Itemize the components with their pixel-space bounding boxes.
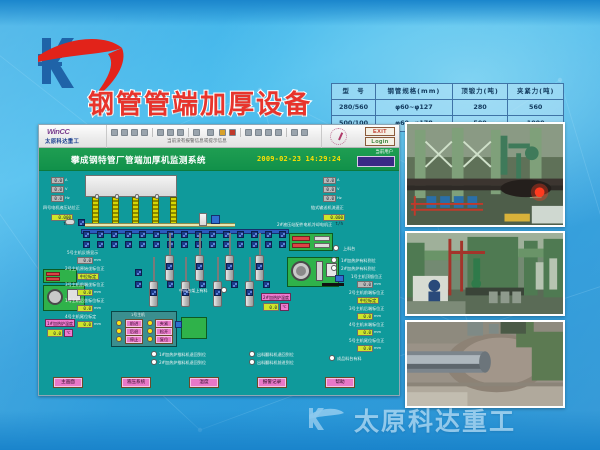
rotary-hub xyxy=(296,266,306,276)
spec-r0c3: 560 xyxy=(508,100,564,116)
indicator-lamp xyxy=(331,257,337,263)
cylinder-rod xyxy=(259,233,261,255)
photo-pipe-closeup-image xyxy=(407,322,563,408)
position-unit: mm xyxy=(94,321,101,327)
cylinder-rod xyxy=(153,257,155,281)
valve xyxy=(279,241,286,248)
valve-block-a xyxy=(314,236,330,241)
valve xyxy=(135,269,142,276)
cylinder-rod xyxy=(169,233,171,255)
toolbar-separator xyxy=(152,128,153,137)
wincc-logo: WinCC xyxy=(47,127,70,136)
cylinder-rod xyxy=(249,257,251,281)
valve-block-b xyxy=(314,243,330,248)
cylinder-valve xyxy=(196,263,203,270)
alarm-stop-icon[interactable] xyxy=(229,129,236,136)
valve xyxy=(139,241,146,248)
login-button[interactable]: Login xyxy=(365,137,395,146)
spec-header-3: 夹紧力(吨) xyxy=(508,84,564,100)
cylinder-rod xyxy=(185,257,187,281)
watermark-text: 太原科达重工 xyxy=(354,402,516,438)
cobrand-label: 太原科达重工 xyxy=(45,137,79,145)
indicator-label: 1#加热炉推料机退回到位 xyxy=(159,353,206,357)
spec-header-2: 顶锻力(吨) xyxy=(452,84,508,100)
cylinder-valve xyxy=(150,289,157,296)
position-unit: mm xyxy=(94,289,101,295)
value-cell: 0.0 xyxy=(51,186,64,193)
temperature-label-right: 2#加热炉温度 xyxy=(261,293,291,301)
ack-alarm-icon[interactable] xyxy=(193,129,200,136)
head-3 xyxy=(135,194,139,199)
valve xyxy=(279,231,286,238)
copy-icon[interactable] xyxy=(141,129,148,136)
keypad-title: 1号主机 xyxy=(131,313,145,317)
head-4 xyxy=(155,194,159,199)
keypad-side-module xyxy=(181,317,207,339)
help-icon[interactable] xyxy=(291,129,298,136)
valve xyxy=(209,231,216,238)
solenoid-b xyxy=(292,243,310,248)
hmi-toolbar-right: EXIT Login xyxy=(321,125,399,148)
position-value: 0.0 xyxy=(357,329,373,336)
indicator-label: 2#加热炉有料到位 xyxy=(341,267,376,271)
indicator-label: 出料翻料机退回到位 xyxy=(257,353,294,357)
position-label: 5号主机反馈显示 xyxy=(67,251,98,255)
exit-button[interactable]: EXIT xyxy=(365,127,395,136)
valve xyxy=(139,231,146,238)
head-2 xyxy=(115,194,119,199)
photo-press-machine-image xyxy=(407,233,563,316)
indicator-lamp xyxy=(151,359,157,365)
main-tank xyxy=(85,175,177,197)
save-icon[interactable] xyxy=(131,129,138,136)
valve xyxy=(237,241,244,248)
keypad-lamp[interactable] xyxy=(116,336,122,342)
motor-icon xyxy=(211,215,220,224)
position-value: 中位标定 xyxy=(357,297,379,304)
indicator-lamp xyxy=(221,287,227,293)
nav-button-hydraulic-system[interactable]: 液压系统 xyxy=(121,377,151,388)
column-3 xyxy=(132,197,139,225)
keypad-lamp[interactable] xyxy=(116,320,122,326)
nav-button-alarm-log[interactable]: 报警记录 xyxy=(257,377,287,388)
position-label: 2号主机前端标位正 xyxy=(349,291,384,295)
cylinder-valve xyxy=(246,289,253,296)
left-rotary-head-icon xyxy=(47,289,63,305)
left-solenoid-a xyxy=(46,272,60,276)
hmi-system-title: 攀成钢特管厂管端加厚机监测系统 xyxy=(71,154,206,166)
keypad-button[interactable]: 停止 xyxy=(125,335,143,344)
valve xyxy=(97,231,104,238)
indicator-label: 出料翻料机前进到位 xyxy=(257,361,294,365)
toolbar-separator xyxy=(286,128,287,137)
valve xyxy=(181,241,188,248)
unit-label: V xyxy=(65,186,67,192)
valve xyxy=(263,281,270,288)
indicator-lamp xyxy=(333,245,339,251)
position-label: 5号主机尾位标位正 xyxy=(349,339,384,343)
top-gradient xyxy=(0,0,600,26)
spec-table-header-row: 型 号 钢管规格(mm) 顶锻力(吨) 夹紧力(吨) xyxy=(332,84,564,100)
slide-header: 钢管管端加厚设备 型 号 钢管规格(mm) 顶锻力(吨) 夹紧力(吨) 280/… xyxy=(0,34,600,112)
position-value: 0.0 xyxy=(77,257,93,264)
position-label: 3号主机前端坐标位正 xyxy=(65,283,104,287)
position-value: 0.0 xyxy=(77,321,93,328)
indicator-label: 成品料台有料 xyxy=(337,357,362,361)
valve xyxy=(97,241,104,248)
position-unit: mm xyxy=(94,257,101,263)
value-cell: 0.0 xyxy=(323,177,336,184)
list-icon[interactable] xyxy=(265,129,272,136)
valve xyxy=(153,231,160,238)
sort-asc-icon[interactable] xyxy=(167,129,174,136)
left-solenoid-b xyxy=(46,277,60,281)
indicator-label: 上料台 xyxy=(343,247,355,251)
hmi-brand-area: WinCC 太原科达重工 xyxy=(39,125,107,148)
indicator-lamp xyxy=(249,351,255,357)
toolbar-separator xyxy=(188,128,189,137)
hmi-footer-bar: 主画面 液压系统 温度 报警记录 帮助 xyxy=(39,371,399,396)
temperature-unit-right: ℃ xyxy=(280,303,289,311)
cylinder-rod xyxy=(217,257,219,281)
indicator-lamp xyxy=(329,355,335,361)
position-unit: mm xyxy=(374,329,381,335)
position-label: 1号主机后坐标位标正 xyxy=(65,299,104,303)
indicator-label: 2#加热炉推料机退回到位 xyxy=(159,361,206,365)
position-unit: mm xyxy=(94,305,101,311)
hmi-titlebar: 攀成钢特管厂管端加厚机监测系统 2009-02-23 14:29:24 当前用户 xyxy=(39,148,399,171)
temperature-value-left: 0.0 xyxy=(47,329,63,337)
temperature-label-left: 1#加热炉温度 xyxy=(45,319,75,327)
value-cell: 0.0 xyxy=(323,195,336,202)
page-title: 钢管管端加厚设备 xyxy=(88,84,312,121)
print-icon[interactable] xyxy=(121,129,128,136)
hmi-user-label: 当前用户 xyxy=(375,149,393,155)
hmi-screenshot-window: WinCC 太原科达重工 当前没有报警信息或提示信息 xyxy=(38,124,400,396)
indicator-label: 1#加热炉有料到位 xyxy=(341,259,376,263)
valve xyxy=(231,281,238,288)
position-label: 4号主机末端标位正 xyxy=(349,323,384,327)
unit-label: A xyxy=(65,177,67,183)
valve xyxy=(125,241,132,248)
zoom-in-icon[interactable] xyxy=(245,129,252,136)
hmi-process-canvas: 0.0 A 0.0 V 0.0 Hz 四号电机液压站位正 0.000 t/h 0… xyxy=(39,171,399,396)
accumulator xyxy=(199,213,207,226)
hmi-toolbar-icons: 当前没有报警信息或提示信息 xyxy=(107,125,321,148)
spec-header-1: 钢管规格(mm) xyxy=(376,84,453,100)
keypad-side-motor xyxy=(175,321,182,328)
unit-label: Hz xyxy=(337,195,342,201)
valve xyxy=(111,231,118,238)
position-value: 0.0 xyxy=(357,313,373,320)
temperature-value-right: 0.0 xyxy=(263,303,279,311)
filter-icon[interactable] xyxy=(157,129,164,136)
spec-r0c2: 280 xyxy=(452,100,508,116)
spec-r0c1: φ60~φ127 xyxy=(376,100,453,116)
valve xyxy=(209,241,216,248)
position-value: 0.0 xyxy=(357,281,373,288)
zoom-out-icon[interactable] xyxy=(255,129,262,136)
cylinder-valve xyxy=(166,263,173,270)
position-unit: mm xyxy=(374,281,381,287)
column-5 xyxy=(170,197,177,225)
base-rail xyxy=(322,283,344,286)
position-unit: mm xyxy=(374,313,381,319)
cylinder-valve xyxy=(256,263,263,270)
gauge-icon xyxy=(330,128,347,145)
filter-icon xyxy=(65,219,75,225)
position-value: 0.0 xyxy=(77,305,93,312)
valve xyxy=(265,231,272,238)
valve xyxy=(237,231,244,238)
cylinder-valve xyxy=(214,289,221,296)
valve xyxy=(153,241,160,248)
keypad-lamp[interactable] xyxy=(147,336,153,342)
watermark-logo-icon xyxy=(306,405,346,435)
valve xyxy=(251,241,258,248)
position-unit: mm xyxy=(374,345,381,351)
group-caption: 链式输送机流速正 xyxy=(311,206,344,210)
valve xyxy=(181,231,188,238)
value-cell: 0.0 xyxy=(323,186,336,193)
watermark: 太原科达重工 xyxy=(306,402,516,438)
hmi-user-field[interactable] xyxy=(357,156,395,167)
hmi-datetime: 2009-02-23 14:29:24 xyxy=(257,155,341,163)
column-4 xyxy=(152,197,159,225)
column-2 xyxy=(112,197,119,225)
indicator-lamp xyxy=(331,265,337,271)
info-icon[interactable] xyxy=(207,129,214,136)
cylinder-rod xyxy=(199,233,201,255)
spec-r0c0: 280/560 xyxy=(332,100,376,116)
valve xyxy=(125,231,132,238)
drive-motor-icon xyxy=(335,275,344,282)
cylinder-valve xyxy=(226,263,233,270)
sort-desc-icon[interactable] xyxy=(177,129,184,136)
open-icon[interactable] xyxy=(111,129,118,136)
valve xyxy=(251,231,258,238)
keypad-lamp[interactable] xyxy=(147,328,153,334)
nav-button-temperature[interactable]: 温度 xyxy=(189,377,219,388)
position-label: 1号主机顶锻位正 xyxy=(351,275,382,279)
valve xyxy=(111,241,118,248)
valve xyxy=(167,281,174,288)
photo-press-machine xyxy=(405,231,565,316)
valve xyxy=(199,281,206,288)
nav-button-help[interactable]: 帮助 xyxy=(325,377,355,388)
valve xyxy=(83,241,90,248)
indicator-label: 中间台架上有料 xyxy=(179,289,208,293)
unit-label: Hz xyxy=(65,195,70,201)
valve xyxy=(83,231,90,238)
toolbar-separator xyxy=(240,128,241,137)
spec-header-0: 型 号 xyxy=(332,84,376,100)
column-1 xyxy=(92,197,99,225)
photo-pipe-closeup xyxy=(405,320,565,408)
temperature-unit-left: ℃ xyxy=(64,329,73,337)
inlet-valve xyxy=(78,219,85,226)
indicator-lamp xyxy=(249,359,255,365)
keypad-button[interactable]: 复位 xyxy=(155,335,173,344)
value-cell: 0.0 xyxy=(51,195,64,202)
position-label: 2号主机原始坐标位正 xyxy=(65,267,104,271)
position-value: 中位标定 xyxy=(77,273,99,280)
position-label: 3号主机后端标位正 xyxy=(349,307,384,311)
indicator-lamp xyxy=(151,351,157,357)
keypad-lamp[interactable] xyxy=(147,320,153,326)
chart-icon[interactable] xyxy=(275,129,282,136)
clamp-block xyxy=(316,261,323,281)
photo-workshop-line-image xyxy=(407,124,563,226)
toolbar-caption: 当前没有报警信息或提示信息 xyxy=(167,138,227,144)
bell-icon[interactable] xyxy=(219,129,226,136)
solenoid-a xyxy=(292,236,310,241)
unit-label: A xyxy=(337,177,339,183)
hmi-toolbar: WinCC 太原科达重工 当前没有报警信息或提示信息 xyxy=(39,125,399,148)
value-cell: 0.0 xyxy=(51,177,64,184)
nav-button-main-screen[interactable]: 主画面 xyxy=(53,377,83,388)
cylinder-rod xyxy=(229,233,231,255)
group-caption: 2#液压站配件电机冷却电机正 xyxy=(277,223,332,227)
head-1 xyxy=(95,194,99,199)
valve xyxy=(265,241,272,248)
table-row: 280/560 φ60~φ127 280 560 xyxy=(332,100,564,116)
unit-label: V xyxy=(337,186,339,192)
position-value: 0.0 xyxy=(357,345,373,352)
keypad-lamp[interactable] xyxy=(116,328,122,334)
valve xyxy=(135,281,142,288)
position-value: 0.0 xyxy=(77,289,93,296)
flow-readout: 0.000 t/h xyxy=(323,214,345,221)
exit-toolbar-icon[interactable] xyxy=(301,129,308,136)
photo-workshop-line xyxy=(405,122,565,227)
group-caption: 四号电机液压站位正 xyxy=(43,206,80,210)
